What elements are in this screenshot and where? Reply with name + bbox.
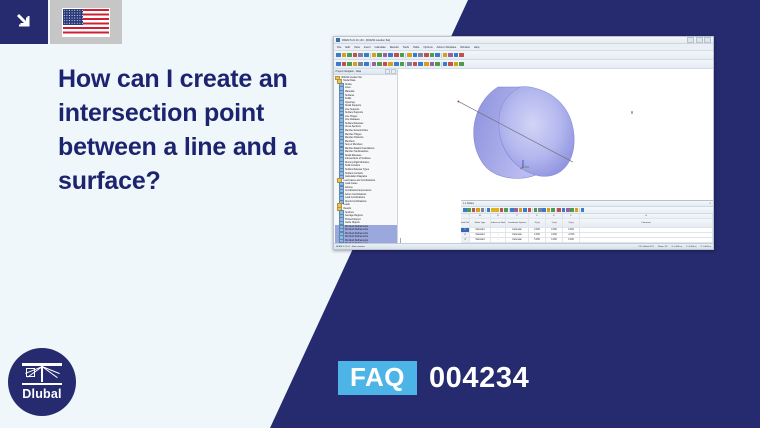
navigator-item-label: Nodes bbox=[345, 84, 352, 86]
app-icon bbox=[336, 38, 340, 42]
navigator-item-label: Loads bbox=[343, 204, 349, 206]
navigator-item-label: Member Elastic Foundations bbox=[345, 148, 375, 150]
table-toolbar-button-17[interactable] bbox=[538, 208, 542, 212]
table-group-header: E bbox=[546, 214, 563, 218]
navigator-item-label: Surface Contacts bbox=[345, 173, 363, 175]
arrow-down-right-icon bbox=[0, 0, 48, 44]
slide-canvas: How can I create an intersection point b… bbox=[0, 0, 760, 428]
menu-item-options[interactable]: Options bbox=[423, 46, 432, 49]
navigator-item-label: Line Hinges bbox=[345, 116, 357, 118]
toolbar-button-1-10[interactable] bbox=[388, 53, 393, 58]
rfem-application-window: RFEM 5.21.01 x64 - [004234 wooden flat] … bbox=[333, 36, 714, 250]
navigator-tree[interactable]: 004234 wooden flatModel DataNodesLinesMa… bbox=[334, 75, 397, 250]
navigator-item-label: Dummy Rigid Members bbox=[345, 162, 369, 164]
table-cell[interactable]: 0.000 bbox=[546, 238, 563, 242]
status-item: CS: Global XYZ bbox=[638, 246, 653, 248]
navigator-item-label: Model Data bbox=[343, 80, 355, 82]
toolbar-button-2-22[interactable] bbox=[459, 62, 464, 67]
toolbar-button-2-17[interactable] bbox=[430, 62, 435, 67]
table-cell[interactable]: Standard bbox=[470, 238, 491, 242]
navigator-item-label: Printout Report bbox=[345, 219, 361, 221]
table-column-header[interactable]: Node Type bbox=[470, 219, 491, 227]
us-flag-icon bbox=[62, 8, 110, 37]
table-cell[interactable]: 0.000 bbox=[529, 228, 546, 232]
toolbar-button-2-6[interactable] bbox=[364, 62, 369, 67]
status-item: Plane: XZ bbox=[658, 246, 668, 248]
toolbar-button-1-8[interactable] bbox=[377, 53, 382, 58]
table-column-header[interactable]: Z [m] bbox=[563, 219, 580, 227]
toolbar-button-2-13[interactable] bbox=[407, 62, 412, 67]
toolbar-separator bbox=[405, 62, 406, 67]
toolbar-button-1-4[interactable] bbox=[353, 53, 358, 58]
table-toolbar-button-16[interactable] bbox=[534, 208, 538, 212]
navigator-item-label: Surface Releases bbox=[345, 123, 363, 125]
toolbar-button-2-14[interactable] bbox=[413, 62, 418, 67]
toolbar-button-2-5[interactable] bbox=[358, 62, 363, 67]
toolbar-button-1-6[interactable] bbox=[364, 53, 369, 58]
table-toolbar-button-19[interactable] bbox=[547, 208, 551, 212]
window-controls[interactable] bbox=[687, 37, 711, 43]
bridge-truss-icon bbox=[22, 363, 62, 385]
toolbar-separator bbox=[370, 53, 371, 58]
table-toolbar-button-10[interactable] bbox=[504, 208, 508, 212]
navigator-item-label: Combination Expressions bbox=[345, 190, 371, 192]
app-body: Project Navigator - Data 004234 wooden f… bbox=[334, 69, 713, 250]
navigator-item-label: Solid Contacts bbox=[345, 165, 360, 167]
toolbar-button-2-20[interactable] bbox=[448, 62, 453, 67]
status-left: RFEM 5.21.01 - Main window bbox=[336, 246, 365, 248]
navigator-item-label: Nodal Supports bbox=[345, 105, 361, 107]
table-group-header: D bbox=[529, 214, 546, 218]
toolbar-button-2-7[interactable] bbox=[372, 62, 377, 67]
navigator-item-label: FE Mesh Refinements bbox=[345, 240, 368, 242]
table-group-header: F bbox=[563, 214, 580, 218]
navigator-item-label: Calculation Diagrams bbox=[345, 176, 367, 178]
navigator-item-label: Average Regions bbox=[345, 215, 363, 217]
toolbar-button-1-17[interactable] bbox=[430, 53, 435, 58]
table-toolbar-button-4[interactable] bbox=[476, 208, 480, 212]
node-icon bbox=[339, 249, 343, 250]
menu-item-results[interactable]: Results bbox=[390, 46, 399, 49]
navigator-item-label: Surfaces bbox=[345, 95, 354, 97]
table-cell[interactable]: Cartesian bbox=[506, 238, 529, 242]
toolbar-button-1-11[interactable] bbox=[394, 53, 399, 58]
table-cell[interactable]: 5.000 bbox=[529, 238, 546, 242]
menu-item-window[interactable]: Window bbox=[460, 46, 470, 49]
table-cell[interactable]: Cartesian bbox=[506, 228, 529, 232]
coordinate-axes-icon bbox=[520, 158, 532, 170]
app-status-bar: RFEM 5.21.01 - Main window CS: Global XY… bbox=[334, 243, 713, 249]
toolbar-button-2-9[interactable] bbox=[383, 62, 388, 67]
table-toolbar-separator bbox=[579, 208, 580, 212]
toolbar-button-1-15[interactable] bbox=[418, 53, 423, 58]
table-cell[interactable]: 0.000 bbox=[563, 228, 580, 232]
status-item: Z: 0.000 m bbox=[701, 246, 711, 248]
toolbar-button-1-7[interactable] bbox=[372, 53, 377, 58]
menu-item-edit[interactable]: Edit bbox=[345, 46, 350, 49]
page-title: How can I create an intersection point b… bbox=[58, 62, 358, 198]
toolbar-separator bbox=[441, 62, 442, 67]
app-toolbar-row-2[interactable] bbox=[334, 60, 713, 69]
navigator-item-label: Results bbox=[343, 208, 351, 210]
toolbar-button-2-11[interactable] bbox=[394, 62, 399, 67]
table-toolbar-button-22[interactable] bbox=[562, 208, 566, 212]
navigator-item-label: FE Mesh Refinements bbox=[345, 229, 368, 231]
table-toolbar-separator bbox=[485, 208, 486, 212]
intersecting-line bbox=[444, 79, 594, 189]
mouse-cursor bbox=[631, 111, 633, 114]
table-toolbar-button-24[interactable] bbox=[570, 208, 574, 212]
navigator-item-label: Actions bbox=[345, 187, 353, 189]
navigator-item-label: Load Cases bbox=[345, 183, 357, 185]
toolbar-button-1-22[interactable] bbox=[459, 53, 464, 58]
table-toolbar-button-14[interactable] bbox=[523, 208, 527, 212]
table-toolbar-button-25[interactable] bbox=[575, 208, 579, 212]
table-column-header[interactable]: Reference Node bbox=[491, 219, 506, 227]
table-toolbar-button-2[interactable] bbox=[467, 208, 471, 212]
toolbar-button-1-5[interactable] bbox=[358, 53, 363, 58]
navigator-item-label: Member Divisions bbox=[345, 137, 364, 139]
table-cell[interactable]: -4.000 bbox=[563, 233, 580, 237]
navigator-item-label: Lines bbox=[345, 87, 351, 89]
navigator-item-label: Surface Supports bbox=[345, 112, 363, 114]
toolbar-separator bbox=[441, 53, 442, 58]
navigator-item-label: Members bbox=[345, 141, 355, 143]
table-cell[interactable]: 0.000 bbox=[529, 233, 546, 237]
table-cell[interactable]: 0.000 bbox=[563, 238, 580, 242]
table-toolbar-button-21[interactable] bbox=[557, 208, 561, 212]
toolbar-button-2-3[interactable] bbox=[347, 62, 352, 67]
logo-wordmark: Dlubal bbox=[22, 387, 61, 401]
navigator-item-label: FE Mesh Refinements bbox=[345, 236, 368, 238]
navigator-item-label: Surface Release Types bbox=[345, 169, 369, 171]
toolbar-button-1-16[interactable] bbox=[424, 53, 429, 58]
toolbar-button-1-9[interactable] bbox=[383, 53, 388, 58]
navigator-item-label: Line Releases bbox=[345, 119, 360, 121]
table-toolbar-button-9[interactable] bbox=[500, 208, 504, 212]
table-toolbar-button-26[interactable] bbox=[581, 208, 585, 212]
toolbar-button-2-12[interactable] bbox=[400, 62, 405, 67]
table-toolbar-button-18[interactable] bbox=[542, 208, 546, 212]
toolbar-button-2-16[interactable] bbox=[424, 62, 429, 67]
table-toolbar-button-8[interactable] bbox=[495, 208, 499, 212]
table-group-header bbox=[461, 214, 470, 218]
table-column-header[interactable]: X [m] bbox=[529, 219, 546, 227]
table-toolbar-button-5[interactable] bbox=[481, 208, 485, 212]
toolbar-separator bbox=[405, 53, 406, 58]
table-toolbar-separator bbox=[532, 208, 533, 212]
toolbar-button-2-21[interactable] bbox=[454, 62, 459, 67]
table-group-header: B bbox=[491, 214, 506, 218]
toolbar-button-2-2[interactable] bbox=[342, 62, 347, 67]
table-column-header[interactable]: Node No. bbox=[461, 219, 470, 227]
table-toolbar-button-20[interactable] bbox=[551, 208, 555, 212]
table-toolbar-button-6[interactable] bbox=[487, 208, 491, 212]
status-item: X: 0.000 m bbox=[671, 246, 682, 248]
navigator-item-label: 004234 wooden flat bbox=[341, 77, 361, 79]
navigator-item-label: Load Cases and Combinations bbox=[343, 180, 375, 182]
toolbar-button-1-1[interactable] bbox=[336, 53, 341, 58]
navigator-item-label: FE Mesh Refinements bbox=[345, 233, 368, 235]
table-cell[interactable] bbox=[580, 238, 713, 242]
menu-item-tools[interactable]: Tools bbox=[403, 46, 409, 49]
table-toolbar-button-3[interactable] bbox=[472, 208, 476, 212]
close-icon[interactable]: × bbox=[709, 202, 711, 205]
model-viewport[interactable]: 1.1 Nodes × ABCDEFGNode No.Node TypeRefe… bbox=[398, 69, 713, 250]
menu-item-table[interactable]: Table bbox=[413, 46, 419, 49]
menu-item-help[interactable]: Help bbox=[474, 46, 480, 49]
table-cell[interactable] bbox=[580, 233, 713, 237]
toolbar-button-1-2[interactable] bbox=[342, 53, 347, 58]
navigator-item-label: Intersections of Surfaces bbox=[345, 158, 371, 160]
table-cell[interactable]: Standard bbox=[470, 233, 491, 237]
menu-item-file[interactable]: File bbox=[337, 46, 341, 49]
table-cell[interactable] bbox=[580, 228, 713, 232]
status-item: Y: 0.000 m bbox=[686, 246, 696, 248]
faq-badge: FAQ bbox=[338, 361, 417, 395]
table-toolbar-button-13[interactable] bbox=[519, 208, 523, 212]
language-flag-button[interactable] bbox=[50, 0, 122, 44]
navigator-item-label: Sections bbox=[345, 212, 354, 214]
table-header-row: Node No.Node TypeReference NodeCoordinat… bbox=[461, 219, 713, 228]
table-column-header[interactable]: Y [m] bbox=[546, 219, 563, 227]
navigator-item-label: Openings bbox=[345, 102, 355, 104]
navigator-item-label: Result Combinations bbox=[345, 201, 366, 203]
navigator-buttons[interactable] bbox=[385, 69, 396, 74]
navigator-item-label: Line Supports bbox=[345, 109, 359, 111]
navigator-item-label: Cross-Sections bbox=[345, 126, 361, 128]
menu-item-calculate[interactable]: Calculate bbox=[375, 46, 386, 49]
navigator-item-label: Nodal Releases bbox=[345, 155, 361, 157]
toolbar-button-1-20[interactable] bbox=[448, 53, 453, 58]
faq-footer: FAQ 004234 bbox=[338, 361, 529, 395]
toolbar-button-1-14[interactable] bbox=[413, 53, 418, 58]
toolbar-button-2-1[interactable] bbox=[336, 62, 341, 67]
navigator-item-label: Guide Objects bbox=[345, 222, 360, 224]
navigator-item-label: Solids bbox=[345, 98, 351, 100]
table-toolbar-button-23[interactable] bbox=[566, 208, 570, 212]
toolbar-button-2-4[interactable] bbox=[353, 62, 358, 67]
menu-item-add-on-modules[interactable]: Add-on Modules bbox=[437, 46, 457, 49]
app-title-bar: RFEM 5.21.01 x64 - [004234 wooden flat] bbox=[334, 37, 713, 44]
table-cell[interactable]: - bbox=[491, 238, 506, 242]
table-cell[interactable]: 0.000 bbox=[546, 233, 563, 237]
table-toolbar[interactable] bbox=[461, 207, 713, 214]
navigator-item-label: Member Eccentricities bbox=[345, 130, 368, 132]
app-window-title: RFEM 5.21.01 x64 - [004234 wooden flat] bbox=[342, 39, 390, 42]
navigator-item-label: Sets of Members bbox=[345, 144, 363, 146]
toolbar-button-2-8[interactable] bbox=[377, 62, 382, 67]
table-cell[interactable]: Cartesian bbox=[506, 233, 529, 237]
navigator-item-label: Materials bbox=[345, 91, 354, 93]
menu-item-view[interactable]: View bbox=[354, 46, 360, 49]
table-group-header: A bbox=[470, 214, 491, 218]
table-toolbar-button-11[interactable] bbox=[510, 208, 514, 212]
table-toolbar-button-7[interactable] bbox=[491, 208, 495, 212]
toolbar-button-1-18[interactable] bbox=[435, 53, 440, 58]
navigator-item-label: Load Combinations bbox=[345, 197, 365, 199]
table-group-header: G bbox=[580, 214, 713, 218]
navigator-item-label: Action Combinations bbox=[345, 194, 366, 196]
navigator-item-label: Member Nonlinearities bbox=[345, 151, 368, 153]
table-cell[interactable]: - bbox=[491, 233, 506, 237]
toolbar-button-2-15[interactable] bbox=[418, 62, 423, 67]
navigator-item-label: Member Hinges bbox=[345, 134, 361, 136]
toolbar-button-1-12[interactable] bbox=[400, 53, 405, 58]
status-right: CS: Global XYZPlane: XZX: 0.000 mY: 0.00… bbox=[638, 246, 711, 248]
dlubal-logo: Dlubal bbox=[8, 348, 76, 416]
table-toolbar-button-12[interactable] bbox=[514, 208, 518, 212]
app-menu-bar[interactable]: FileEditViewInsertCalculateResultsToolsT… bbox=[334, 44, 713, 51]
toolbar-button-1-3[interactable] bbox=[347, 53, 352, 58]
menu-item-insert[interactable]: Insert bbox=[364, 46, 371, 49]
faq-number: 004234 bbox=[429, 364, 529, 393]
table-cell[interactable]: - bbox=[491, 228, 506, 232]
toolbar-separator bbox=[370, 62, 371, 67]
toolbar-button-2-10[interactable] bbox=[388, 62, 393, 67]
table-column-header[interactable]: Coordinate System bbox=[506, 219, 529, 227]
table-cell[interactable]: Standard bbox=[470, 228, 491, 232]
toolbar-button-2-19[interactable] bbox=[443, 62, 448, 67]
table-cell[interactable]: 0.000 bbox=[546, 228, 563, 232]
navigator-title: Project Navigator - Data bbox=[336, 70, 362, 73]
table-toolbar-button-1[interactable] bbox=[463, 208, 467, 212]
table-group-header: C bbox=[506, 214, 529, 218]
toolbar-button-1-19[interactable] bbox=[443, 53, 448, 58]
table-cell[interactable]: 1 bbox=[461, 228, 470, 232]
toolbar-button-2-18[interactable] bbox=[435, 62, 440, 67]
toolbar-button-1-21[interactable] bbox=[454, 53, 459, 58]
app-toolbar-row-1[interactable] bbox=[334, 51, 713, 60]
table-column-header[interactable]: Comment bbox=[580, 219, 713, 227]
table-toolbar-button-15[interactable] bbox=[528, 208, 532, 212]
toolbar-button-1-13[interactable] bbox=[407, 53, 412, 58]
table-cell[interactable]: 2 bbox=[461, 233, 470, 237]
table-cell[interactable]: 3 bbox=[461, 238, 470, 242]
table-title: 1.1 Nodes bbox=[463, 202, 474, 205]
project-navigator[interactable]: Project Navigator - Data 004234 wooden f… bbox=[334, 69, 398, 250]
navigator-item-label: FE Mesh Refinements bbox=[345, 226, 368, 228]
